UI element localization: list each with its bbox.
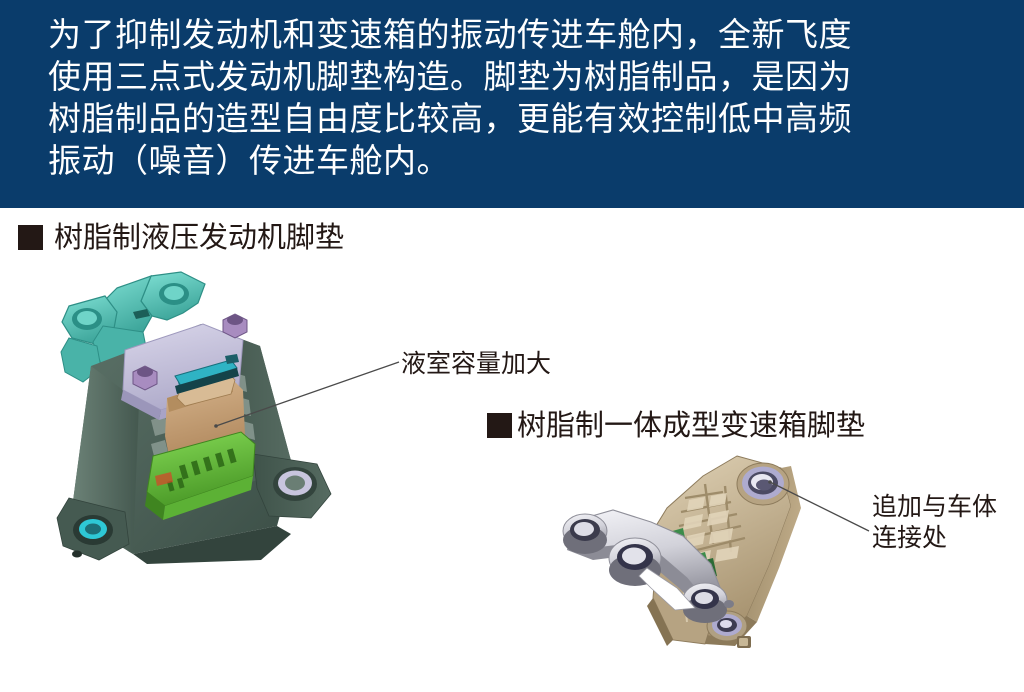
section-label-engine-mount-text: 树脂制液压发动机脚垫 (54, 220, 344, 254)
square-bullet-icon (487, 413, 512, 438)
section-label-transmission-mount-text: 树脂制一体成型变速箱脚垫 (517, 408, 865, 442)
header-banner: 为了抑制发动机和变速箱的振动传进车舱内，全新飞度 使用三点式发动机脚垫构造。脚垫… (0, 0, 1024, 208)
body-connection-bushing (737, 463, 789, 505)
engine-mount-svg (55, 268, 355, 568)
page-root: 为了抑制发动机和变速箱的振动传进车舱内，全新飞度 使用三点式发动机脚垫构造。脚垫… (0, 0, 1024, 692)
callout-hydraulic-chamber: 液室容量加大 (401, 348, 551, 379)
square-bullet-icon (18, 225, 43, 250)
section-label-transmission-mount: 树脂制一体成型变速箱脚垫 (487, 408, 865, 442)
section-label-engine-mount: 树脂制液压发动机脚垫 (18, 220, 344, 254)
callout-body-connection: 追加与车体 连接处 (872, 491, 997, 553)
header-paragraph: 为了抑制发动机和变速箱的振动传进车舱内，全新飞度 使用三点式发动机脚垫构造。脚垫… (48, 14, 988, 182)
transmission-mount-illustration (555, 448, 855, 662)
engine-mount-illustration (55, 268, 355, 572)
transmission-mount-svg (555, 448, 855, 658)
